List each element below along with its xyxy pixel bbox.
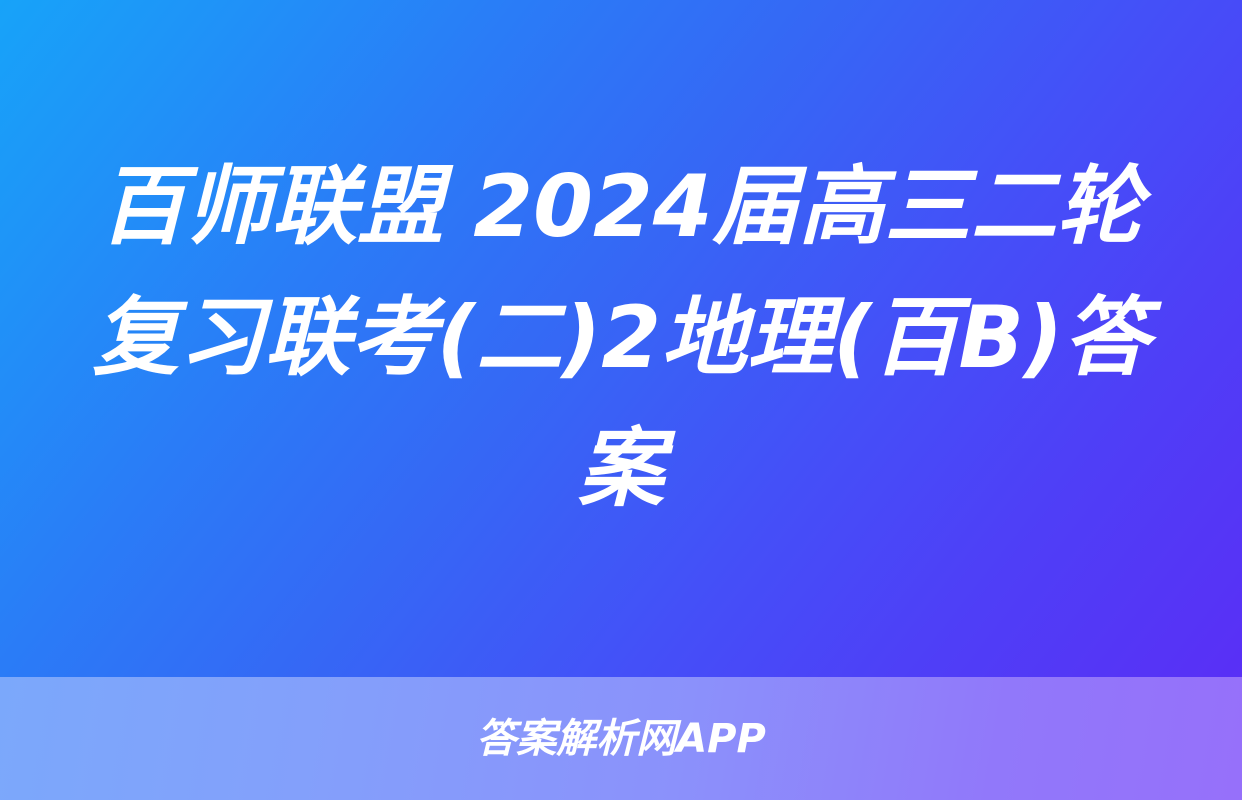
watermark-text: 答案解析网APP: [476, 719, 766, 759]
page-title: 百师联盟 2024届高三二轮复习联考(二)2地理(百B)答案: [80, 142, 1162, 534]
title-area: 百师联盟 2024届高三二轮复习联考(二)2地理(百B)答案: [0, 0, 1242, 677]
watermark-band: 答案解析网APP: [0, 677, 1242, 800]
answer-poster: 百师联盟 2024届高三二轮复习联考(二)2地理(百B)答案 答案解析网APP: [0, 0, 1242, 800]
